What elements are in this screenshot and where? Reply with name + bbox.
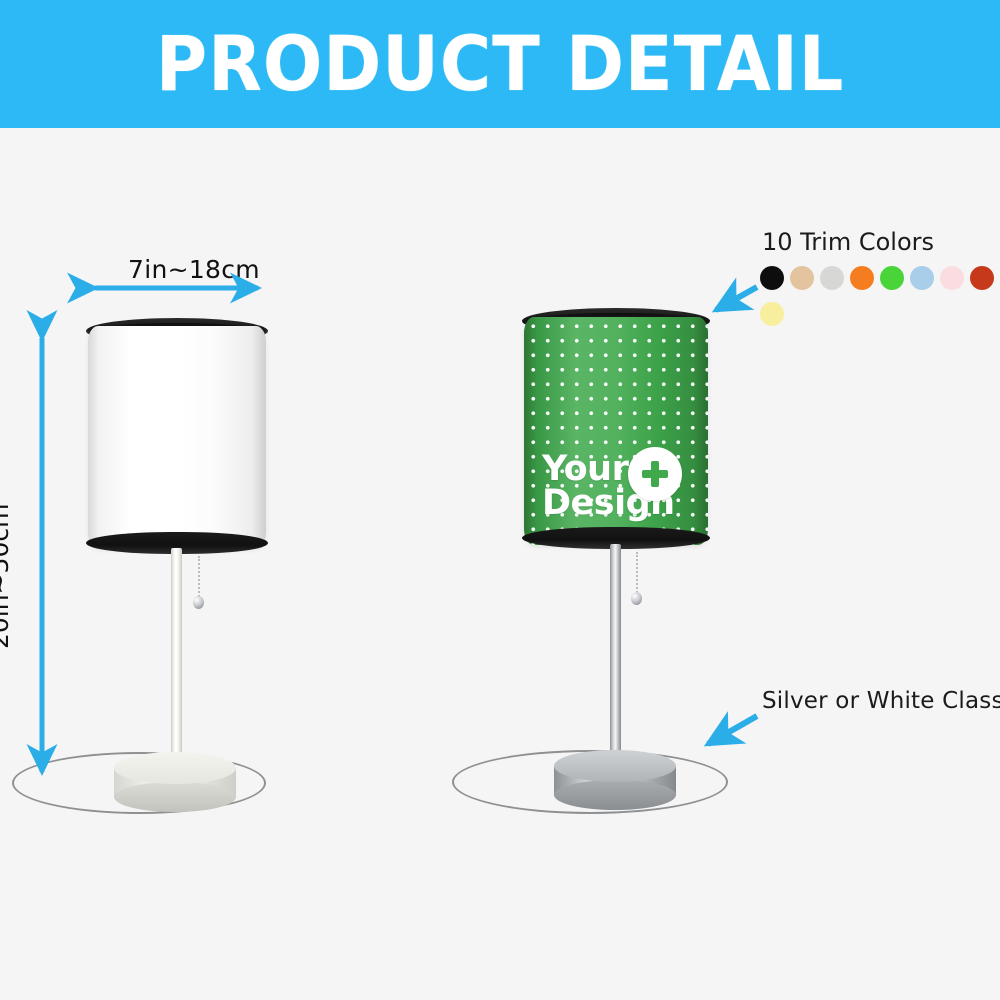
base-finish-pointer-arrow: [708, 716, 757, 744]
green-lamp-chain-bead: [631, 592, 642, 605]
green-lamp-pole: [610, 544, 621, 766]
base-bottom: [554, 780, 676, 810]
trim-swatch-pale-yellow[interactable]: [760, 302, 784, 326]
header-banner: PRODUCT DETAIL: [0, 0, 1000, 128]
shade-body-white: [88, 326, 266, 548]
plus-icon: [628, 447, 682, 501]
base-top: [114, 752, 236, 784]
trim-swatch-tan[interactable]: [790, 266, 814, 290]
white-lamp-pole: [171, 548, 182, 764]
trim-swatch-black[interactable]: [760, 266, 784, 290]
height-dimension-label: 20in~50cm: [0, 504, 14, 649]
white-lamp-pull-chain: [198, 556, 202, 600]
green-lampshade: Your Design: [524, 308, 708, 550]
trim-swatch-green[interactable]: [880, 266, 904, 290]
trim-swatch-pink[interactable]: [940, 266, 964, 290]
width-dimension-label: 7in~18cm: [128, 255, 260, 284]
trim-colors-title: 10 Trim Colors: [762, 228, 934, 256]
white-lampshade: [88, 318, 266, 554]
trim-swatch-row-1[interactable]: [760, 266, 994, 290]
green-lamp-base: [554, 750, 676, 812]
infographic-canvas: PRODUCT DETAIL: [0, 0, 1000, 1000]
shade-body-green-polkadot: Your Design: [524, 317, 708, 545]
trim-swatch-row-2[interactable]: [760, 302, 784, 326]
base-finish-callout: Silver or White Classy: [762, 688, 1000, 714]
base-bottom: [114, 782, 236, 812]
trim-swatch-orange[interactable]: [850, 266, 874, 290]
green-lamp-pull-chain: [636, 552, 640, 596]
trim-swatch-dark-red[interactable]: [970, 266, 994, 290]
trim-swatch-light-blue[interactable]: [910, 266, 934, 290]
white-lamp-base: [114, 752, 236, 814]
trim-colors-pointer-arrow: [716, 287, 757, 310]
page-title: PRODUCT DETAIL: [156, 26, 844, 102]
trim-swatch-light-gray[interactable]: [820, 266, 844, 290]
white-lamp-chain-bead: [193, 596, 204, 609]
base-top: [554, 750, 676, 782]
